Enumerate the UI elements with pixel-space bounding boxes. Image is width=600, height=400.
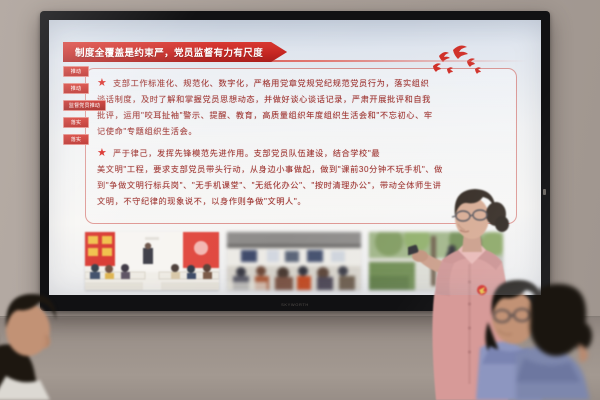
audience-right-back xyxy=(516,284,600,400)
side-tab-label: 监督党员推动 xyxy=(69,102,100,109)
side-tab-4[interactable]: 落实 xyxy=(63,134,89,145)
power-led-indicator xyxy=(543,189,546,195)
side-tab-label: 推动 xyxy=(71,68,81,75)
paragraph-line: 严于律己，发挥先锋模范先进作用。支部党员队伍建设，结合学校"最 xyxy=(97,146,509,162)
side-tab-2-active[interactable]: 监督党员推动 xyxy=(63,100,106,111)
side-tab-0[interactable]: 推动 xyxy=(63,66,89,77)
side-tab-label: 落实 xyxy=(71,136,81,143)
slide-title: 制度全覆盖是约束严，党员监督有力有尺度 xyxy=(75,45,263,59)
side-tab-1[interactable]: 推动 xyxy=(63,83,89,94)
slide-title-ribbon: 制度全覆盖是约束严，党员监督有力有尺度 xyxy=(63,42,287,62)
paragraph-line: 批评，运用"咬耳扯袖"警示、提醒、教育，高质量组织年度组织生活会和"不忘初心、牢 xyxy=(97,108,509,124)
side-tab-label: 落实 xyxy=(71,119,81,126)
paragraph-line: 记使命"专题组织生活会。 xyxy=(97,124,509,140)
audience-left xyxy=(0,288,126,400)
photo-indoor-hall xyxy=(227,232,361,290)
paragraph-line: 美文明"工程，要求支部党员带头行动，从身边小事做起，做到"课前30分钟不玩手机"… xyxy=(97,162,509,178)
paragraph-line: 谈话制度，及时了解和掌握党员思想动态，并做好谈心谈话记录，严肃开展批评和自我 xyxy=(97,92,509,108)
classroom-scene: 制度全覆盖是约束严，党员监督有力有尺度 推动 xyxy=(0,0,600,400)
slide-side-tabs: 推动 推动 监督党员推动 落实 落实 xyxy=(63,66,107,151)
side-tab-label: 推动 xyxy=(71,85,81,92)
red-doves-icon xyxy=(409,42,489,76)
photo-meeting-room xyxy=(85,232,219,290)
side-tab-3[interactable]: 落实 xyxy=(63,117,89,128)
tv-brand-logo: SKYWORTH xyxy=(281,302,309,307)
paragraph-line: 支部工作标准化、规范化、数字化，严格用党章党规党纪规范党员行为，落实组织 xyxy=(97,76,509,92)
slide-paragraph-1: ★ 支部工作标准化、规范化、数字化，严格用党章党规党纪规范党员行为，落实组织 谈… xyxy=(97,76,509,140)
